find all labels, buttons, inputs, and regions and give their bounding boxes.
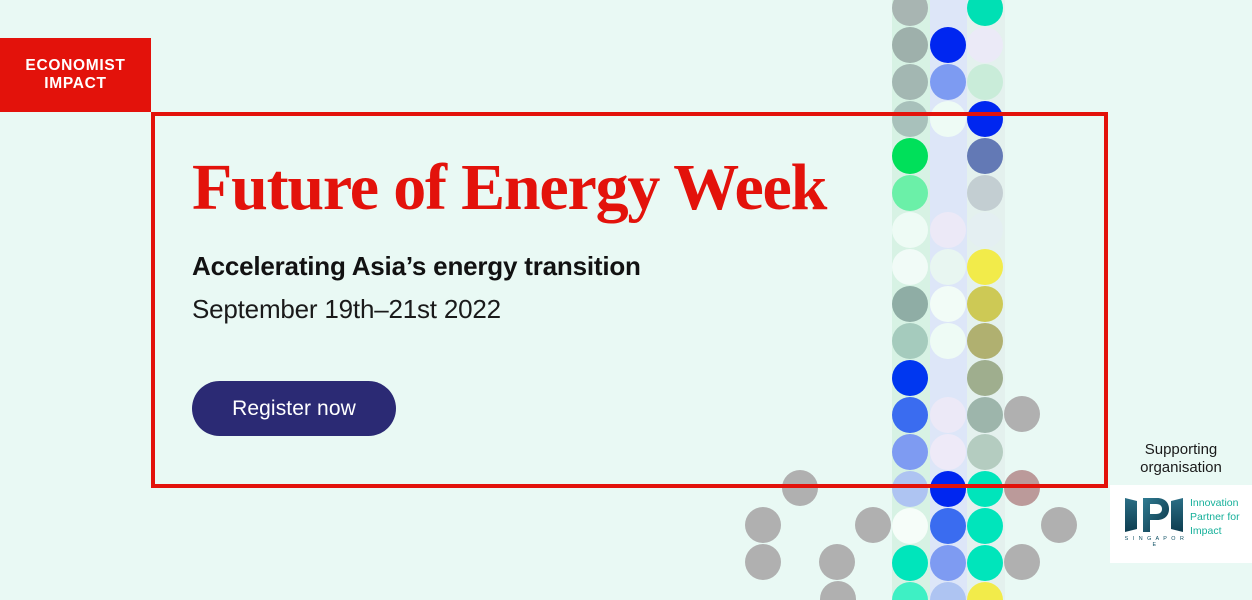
dot-col1-12 [930,434,966,470]
dot-col0-3 [892,101,928,137]
scattered-dot-8 [1041,507,1077,543]
dot-col2-11 [967,397,1003,433]
ipi-tagline-line3: Impact [1190,525,1252,539]
logo-line-impact: IMPACT [44,75,106,93]
dot-col2-5 [967,175,1003,211]
dot-col1-10 [930,360,966,396]
hero-copy: Future of Energy Week Accelerating Asia’… [192,155,892,325]
page-title: Future of Energy Week [192,155,892,221]
scattered-dot-5 [820,581,856,600]
dot-col1-1 [930,27,966,63]
dot-col1-15 [930,545,966,581]
ipi-logo-box[interactable]: S I N G A P O R E Innovation Partner for… [1110,485,1252,563]
ipi-singapore-wordmark: S I N G A P O R E [1124,536,1186,548]
dot-col2-7 [967,249,1003,285]
dot-col0-7 [892,249,928,285]
supporting-label-line2: organisation [1110,459,1252,477]
scattered-dot-2 [855,507,891,543]
dot-col0-4 [892,138,928,174]
dot-col2-3 [967,101,1003,137]
hero-subtitle: Accelerating Asia’s energy transition [192,251,892,282]
dot-col0-6 [892,212,928,248]
dot-col2-8 [967,286,1003,322]
dot-col1-2 [930,64,966,100]
dot-col0-13 [892,471,928,507]
dot-col2-2 [967,64,1003,100]
dot-col1-5 [930,175,966,211]
dot-col2-15 [967,545,1003,581]
dot-col0-9 [892,323,928,359]
hero-dateline: September 19th–21st 2022 [192,294,892,325]
dot-col1-11 [930,397,966,433]
dot-col0-5 [892,175,928,211]
dot-col0-8 [892,286,928,322]
dot-col0-15 [892,545,928,581]
dot-col2-4 [967,138,1003,174]
dot-col1-13 [930,471,966,507]
scattered-dot-3 [745,544,781,580]
dot-col1-4 [930,138,966,174]
register-now-button[interactable]: Register now [192,381,396,436]
scattered-dot-9 [1004,544,1040,580]
logo-line-economist: ECONOMIST [25,57,125,75]
dot-col1-14 [930,508,966,544]
ipi-tagline-line1: Innovation [1190,497,1252,511]
scattered-dot-0 [782,470,818,506]
dot-col2-13 [967,471,1003,507]
ipi-logo-mark-icon [1124,496,1184,534]
dot-col0-14 [892,508,928,544]
dot-col0-12 [892,434,928,470]
dot-col1-6 [930,212,966,248]
dot-col1-7 [930,249,966,285]
dot-col0-1 [892,27,928,63]
dot-col0-11 [892,397,928,433]
supporting-label-line1: Supporting [1110,441,1252,459]
dot-col0-10 [892,360,928,396]
dot-col2-10 [967,360,1003,396]
scattered-dot-4 [819,544,855,580]
supporting-organisation-label: Supporting organisation [1110,441,1252,478]
dot-col0-2 [892,64,928,100]
dot-col2-9 [967,323,1003,359]
dot-col2-12 [967,434,1003,470]
dot-col2-14 [967,508,1003,544]
scattered-dot-6 [1004,396,1040,432]
dot-col1-8 [930,286,966,322]
economist-impact-logo: ECONOMIST IMPACT [0,38,151,112]
dot-col1-9 [930,323,966,359]
ipi-tagline: Innovation Partner for Impact [1190,497,1252,539]
dot-col1-3 [930,101,966,137]
event-banner: ECONOMIST IMPACT Future of Energy Week A… [0,0,1252,600]
scattered-dot-7 [1004,470,1040,506]
scattered-dot-1 [745,507,781,543]
ipi-tagline-line2: Partner for [1190,511,1252,525]
dot-col2-6 [967,212,1003,248]
dot-col2-1 [967,27,1003,63]
